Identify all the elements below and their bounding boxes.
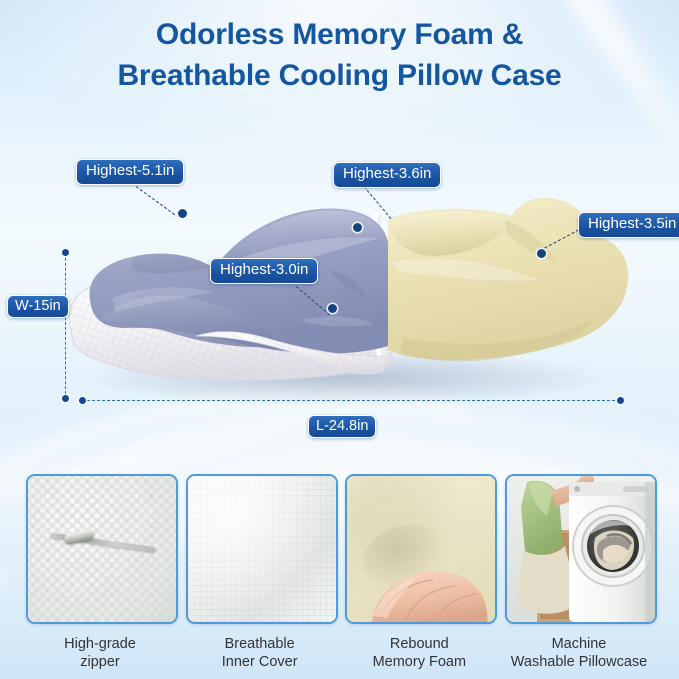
feature-breathable-inner-cover: Breathable Inner Cover: [186, 474, 334, 672]
pillow-illustration: [0, 150, 679, 420]
feature-rebound-memory-foam: Rebound Memory Foam: [345, 474, 493, 672]
feature-caption-line-2: zipper: [26, 653, 174, 671]
feature-caption-line-1: Breathable: [186, 635, 334, 653]
title-line-1: Odorless Memory Foam &: [0, 14, 679, 55]
anchor-dot-highest-3-5: [537, 249, 546, 258]
feature-high-grade-zipper: High-grade zipper: [26, 474, 174, 672]
feature-caption-line-1: Rebound: [345, 635, 493, 653]
feature-caption: Rebound Memory Foam: [345, 635, 493, 672]
washing-machine-image: [507, 476, 655, 622]
inner-cover-fabric-image: [188, 476, 336, 622]
width-dimension-endpoint-top: [62, 249, 69, 256]
zipper-fabric-image: [28, 476, 176, 622]
feature-panel-row: High-grade zipper Breathable Inner Cover: [0, 474, 679, 672]
page-title: Odorless Memory Foam & Breathable Coolin…: [0, 14, 679, 97]
callout-highest-3-5: Highest-3.5in: [578, 212, 679, 238]
feature-caption: Breathable Inner Cover: [186, 635, 334, 672]
callout-highest-3-0: Highest-3.0in: [210, 258, 318, 284]
callout-highest-3-6: Highest-3.6in: [333, 162, 441, 188]
anchor-dot-highest-3-6: [353, 223, 362, 232]
feature-caption: Machine Washable Pillowcase: [505, 635, 653, 672]
callout-length-dimension: L-24.8in: [308, 415, 376, 438]
feature-caption: High-grade zipper: [26, 635, 174, 672]
product-infographic: Odorless Memory Foam & Breathable Coolin…: [0, 0, 679, 679]
anchor-dot-highest-5-1: [178, 209, 187, 218]
feature-image-frame: [26, 474, 178, 624]
callout-highest-5-1: Highest-5.1in: [76, 159, 184, 185]
feature-caption-line-2: Inner Cover: [186, 653, 334, 671]
feature-image-frame: [505, 474, 657, 624]
feature-caption-line-1: High-grade: [26, 635, 174, 653]
length-dimension-endpoint-left: [79, 397, 86, 404]
feature-caption-line-2: Washable Pillowcase: [505, 653, 653, 671]
feature-caption-line-1: Machine: [505, 635, 653, 653]
anchor-dot-highest-3-0: [328, 304, 337, 313]
feature-machine-washable-pillowcase: Machine Washable Pillowcase: [505, 474, 653, 672]
feature-image-frame: [186, 474, 338, 624]
hand-icon: [369, 542, 497, 624]
feature-caption-line-2: Memory Foam: [345, 653, 493, 671]
title-line-2: Breathable Cooling Pillow Case: [0, 55, 679, 96]
length-dimension-endpoint-right: [617, 397, 624, 404]
memory-foam-image: [347, 476, 495, 622]
feature-image-frame: [345, 474, 497, 624]
width-dimension-endpoint-bottom: [62, 395, 69, 402]
callout-width-dimension: W-15in: [7, 295, 69, 318]
